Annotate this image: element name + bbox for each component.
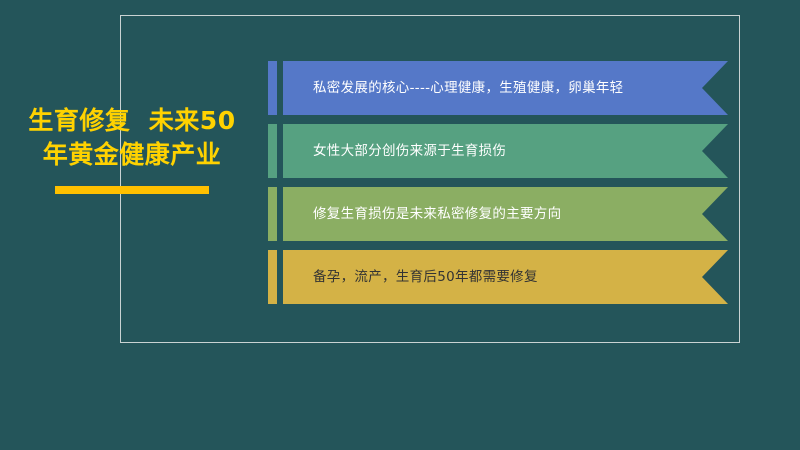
page-title: 生育修复 未来50年黄金健康产业 — [24, 104, 240, 172]
list-item[interactable]: 女性大部分创伤来源于生育损伤 — [268, 124, 728, 178]
title-block: 生育修复 未来50年黄金健康产业 — [24, 104, 240, 194]
banner-ribbon-shape: 私密发展的核心----心理健康，生殖健康，卵巢年轻 — [283, 61, 728, 115]
banner-label: 女性大部分创伤来源于生育损伤 — [283, 143, 552, 159]
banner-accent-tab — [268, 250, 277, 304]
banner-ribbon-shape: 女性大部分创伤来源于生育损伤 — [283, 124, 728, 178]
banner-accent-tab — [268, 61, 277, 115]
banner-label: 备孕，流产，生育后50年都需要修复 — [283, 269, 584, 285]
banner-label: 私密发展的核心----心理健康，生殖健康，卵巢年轻 — [283, 80, 670, 96]
list-item[interactable]: 修复生育损伤是未来私密修复的主要方向 — [268, 187, 728, 241]
banner-list: 私密发展的核心----心理健康，生殖健康，卵巢年轻 女性大部分创伤来源于生育损伤… — [268, 61, 728, 313]
banner-accent-tab — [268, 187, 277, 241]
banner-accent-tab — [268, 124, 277, 178]
banner-label: 修复生育损伤是未来私密修复的主要方向 — [283, 206, 607, 222]
list-item[interactable]: 备孕，流产，生育后50年都需要修复 — [268, 250, 728, 304]
slide-canvas: 生育修复 未来50年黄金健康产业 私密发展的核心----心理健康，生殖健康，卵巢… — [0, 0, 800, 450]
title-underline-rule — [55, 186, 209, 194]
banner-ribbon-shape: 修复生育损伤是未来私密修复的主要方向 — [283, 187, 728, 241]
banner-ribbon-shape: 备孕，流产，生育后50年都需要修复 — [283, 250, 728, 304]
list-item[interactable]: 私密发展的核心----心理健康，生殖健康，卵巢年轻 — [268, 61, 728, 115]
